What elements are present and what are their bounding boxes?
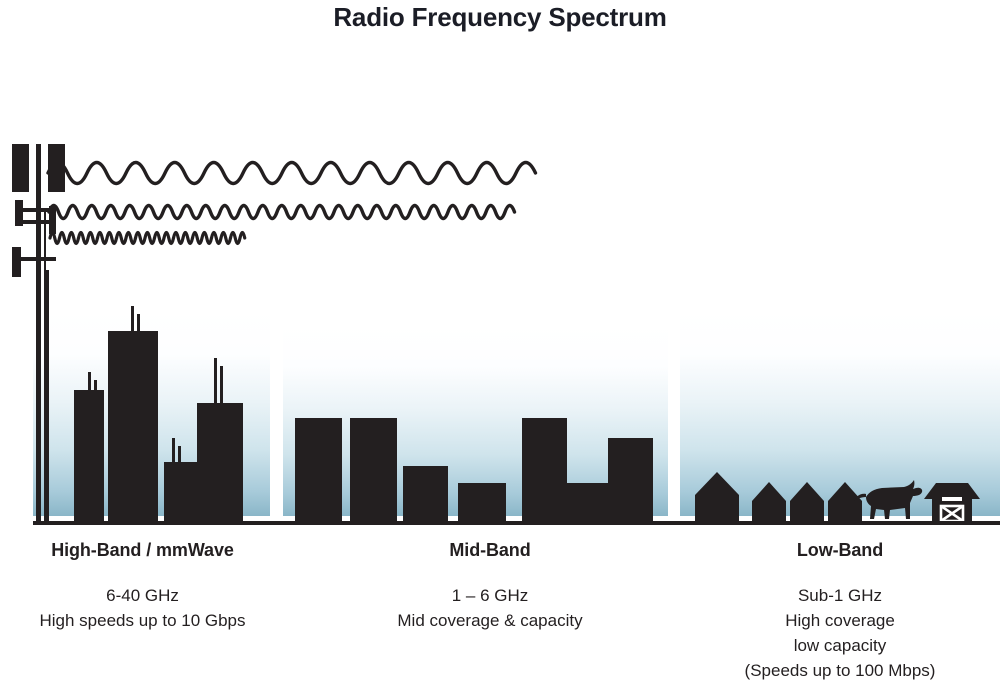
band-detail-low-band-2: low capacity	[680, 633, 1000, 658]
building-mid-7	[608, 438, 653, 521]
building-mid-3	[403, 466, 448, 521]
building-mid-5	[522, 418, 567, 521]
house-4	[828, 482, 862, 521]
house-3	[790, 482, 824, 521]
building-high-2	[108, 331, 158, 521]
infographic-root: Radio Frequency Spectrum	[0, 0, 1000, 700]
band-column-high-band: High-Band / mmWave 6-40 GHz High speeds …	[0, 540, 285, 633]
spire	[220, 366, 223, 406]
page-title: Radio Frequency Spectrum	[0, 2, 1000, 33]
band-labels: High-Band / mmWave 6-40 GHz High speeds …	[0, 540, 1000, 700]
band-frequency-low-band: Sub-1 GHz	[680, 583, 1000, 608]
building-mid-2	[350, 418, 397, 521]
band-frequency-mid-band: 1 – 6 GHz	[330, 583, 650, 608]
band-column-mid-band: Mid-Band 1 – 6 GHz Mid coverage & capaci…	[330, 540, 650, 633]
band-detail-low-band-1: High coverage	[680, 608, 1000, 633]
house-2	[752, 482, 786, 521]
city-skyline-high-band	[74, 306, 243, 521]
rural-scene-low-band	[695, 472, 980, 521]
spectrum-scene	[0, 120, 1000, 530]
barn-hayloft-window	[942, 497, 962, 501]
band-detail-high-band-1: High speeds up to 10 Gbps	[0, 608, 285, 633]
band-heading-mid-band: Mid-Band	[330, 540, 650, 561]
building-high-4	[197, 403, 243, 521]
building-high-3	[164, 462, 200, 521]
ground-line	[33, 521, 1000, 525]
band-detail-low-band-3: (Speeds up to 100 Mbps)	[680, 658, 1000, 683]
band-heading-low-band: Low-Band	[680, 540, 1000, 561]
spire	[214, 358, 217, 406]
band-heading-high-band: High-Band / mmWave	[0, 540, 285, 561]
building-high-1	[74, 390, 104, 521]
house-1	[695, 472, 739, 521]
city-skyline-mid-band	[295, 418, 653, 521]
band-frequency-high-band: 6-40 GHz	[0, 583, 285, 608]
building-mid-6	[567, 483, 608, 521]
skyline-silhouettes	[0, 120, 1000, 530]
band-column-low-band: Low-Band Sub-1 GHz High coverage low cap…	[680, 540, 1000, 683]
band-detail-mid-band-1: Mid coverage & capacity	[330, 608, 650, 633]
building-mid-1	[295, 418, 342, 521]
building-mid-4	[458, 483, 506, 521]
cow-silhouette	[854, 480, 922, 519]
